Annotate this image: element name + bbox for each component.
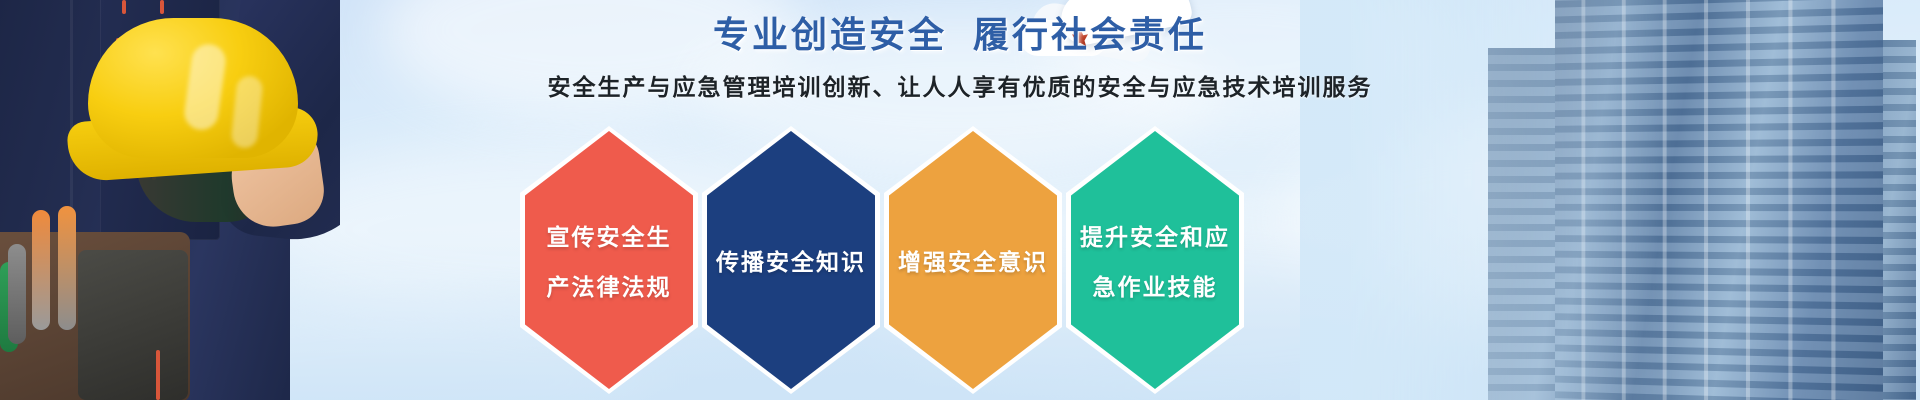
hexagon-fill: 增强安全意识 xyxy=(889,131,1057,389)
tool-pliers-icon xyxy=(32,210,50,330)
hexagon-fill: 提升安全和应 急作业技能 xyxy=(1071,131,1239,389)
building-atmospheric-fade xyxy=(1300,0,1920,400)
hexagon-badge[interactable]: 宣传安全生 产法律法规 xyxy=(520,126,698,394)
hexagon-badge-row: 宣传安全生 产法律法规 传播安全知识 增强安全意识 提升安全和应 急作业技能 xyxy=(520,126,1240,400)
hexagon-badge[interactable]: 增强安全意识 xyxy=(884,126,1062,394)
tool-pliers-icon xyxy=(58,206,76,330)
hexagon-label-line: 产法律法规 xyxy=(547,268,672,302)
hexagon-label-line: 急作业技能 xyxy=(1093,268,1218,302)
hexagon-badge[interactable]: 传播安全知识 xyxy=(702,126,880,394)
banner-headline: 专业创造安全 履行社会责任 xyxy=(0,6,1920,58)
banner-subtitle: 安全生产与应急管理培训创新、让人人享有优质的安全与应急技术培训服务 xyxy=(0,68,1920,102)
blue-glass-skyscraper xyxy=(1300,0,1920,400)
hexagon-fill: 宣传安全生 产法律法规 xyxy=(525,131,693,389)
hexagon-badge[interactable]: 提升安全和应 急作业技能 xyxy=(1066,126,1244,394)
construction-worker xyxy=(0,0,340,400)
hexagon-label-line: 提升安全和应 xyxy=(1080,218,1230,252)
hexagon-label-line: 宣传安全生 xyxy=(547,218,672,252)
tool-screwdriver-icon xyxy=(8,244,26,344)
hexagon-label-line: 增强安全意识 xyxy=(898,243,1048,277)
tool-pouch xyxy=(78,250,188,400)
safety-training-banner: 专业创造安全 履行社会责任 安全生产与应急管理培训创新、让人人享有优质的安全与应… xyxy=(0,0,1920,400)
uniform-red-stitch xyxy=(156,350,160,400)
hexagon-label-line: 传播安全知识 xyxy=(716,243,866,277)
hexagon-fill: 传播安全知识 xyxy=(707,131,875,389)
